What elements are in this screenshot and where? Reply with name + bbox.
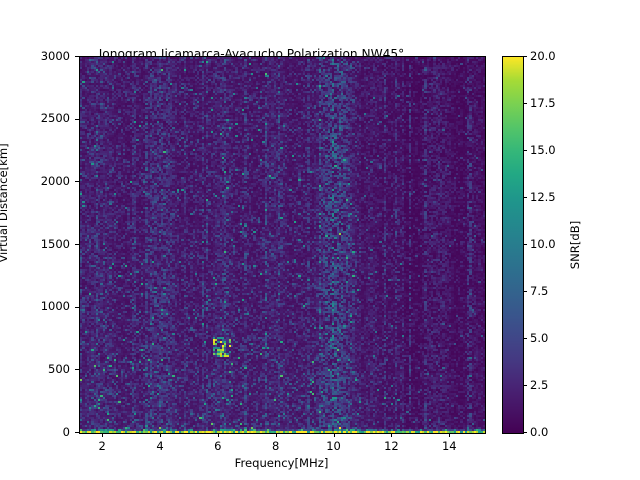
y-tick-mark xyxy=(75,307,79,308)
x-tick-label: 6 xyxy=(198,439,238,453)
colorbar xyxy=(502,56,524,434)
y-tick-mark xyxy=(75,244,79,245)
colorbar-tick-mark xyxy=(523,150,527,151)
y-tick-label: 1500 xyxy=(10,237,70,251)
x-tick-mark xyxy=(334,433,335,437)
x-tick-label: 12 xyxy=(371,439,411,453)
colorbar-tick-label: 5.0 xyxy=(530,331,580,345)
x-tick-label: 10 xyxy=(314,439,354,453)
colorbar-tick-label: 0.0 xyxy=(530,425,580,439)
x-tick-mark xyxy=(449,433,450,437)
colorbar-tick-mark xyxy=(523,197,527,198)
ionogram-figure: Ionogram Jicamarca-Ayacucho Polarization… xyxy=(0,0,640,480)
y-tick-mark xyxy=(75,181,79,182)
y-tick-label: 3000 xyxy=(10,49,70,63)
x-tick-mark xyxy=(218,433,219,437)
y-tick-label: 500 xyxy=(10,362,70,376)
colorbar-tick-label: 20.0 xyxy=(530,49,580,63)
y-tick-mark xyxy=(75,56,79,57)
x-tick-label: 4 xyxy=(140,439,180,453)
x-tick-mark xyxy=(391,433,392,437)
y-tick-mark xyxy=(75,432,79,433)
colorbar-tick-label: 2.5 xyxy=(530,378,580,392)
x-tick-mark xyxy=(276,433,277,437)
x-tick-mark xyxy=(160,433,161,437)
colorbar-tick-mark xyxy=(523,385,527,386)
colorbar-tick-mark xyxy=(523,244,527,245)
colorbar-tick-mark xyxy=(523,432,527,433)
colorbar-tick-mark xyxy=(523,291,527,292)
ionogram-plot-area xyxy=(79,56,486,434)
colorbar-tick-label: 15.0 xyxy=(530,143,580,157)
y-axis-label: Virtual Distance[km] xyxy=(0,0,10,438)
colorbar-label: SNR[dB] xyxy=(568,175,582,315)
x-tick-label: 2 xyxy=(82,439,122,453)
y-tick-mark xyxy=(75,369,79,370)
ionogram-heatmap xyxy=(80,57,485,433)
x-tick-label: 14 xyxy=(429,439,469,453)
y-tick-label: 2500 xyxy=(10,111,70,125)
x-axis-label: Frequency[MHz] xyxy=(79,456,484,470)
colorbar-tick-label: 17.5 xyxy=(530,96,580,110)
colorbar-tick-mark xyxy=(523,338,527,339)
y-tick-label: 0 xyxy=(10,425,70,439)
y-tick-mark xyxy=(75,119,79,120)
colorbar-tick-mark xyxy=(523,56,527,57)
colorbar-gradient xyxy=(503,57,523,433)
x-tick-mark xyxy=(102,433,103,437)
y-tick-label: 2000 xyxy=(10,174,70,188)
colorbar-tick-mark xyxy=(523,103,527,104)
x-tick-label: 8 xyxy=(256,439,296,453)
y-tick-label: 1000 xyxy=(10,299,70,313)
